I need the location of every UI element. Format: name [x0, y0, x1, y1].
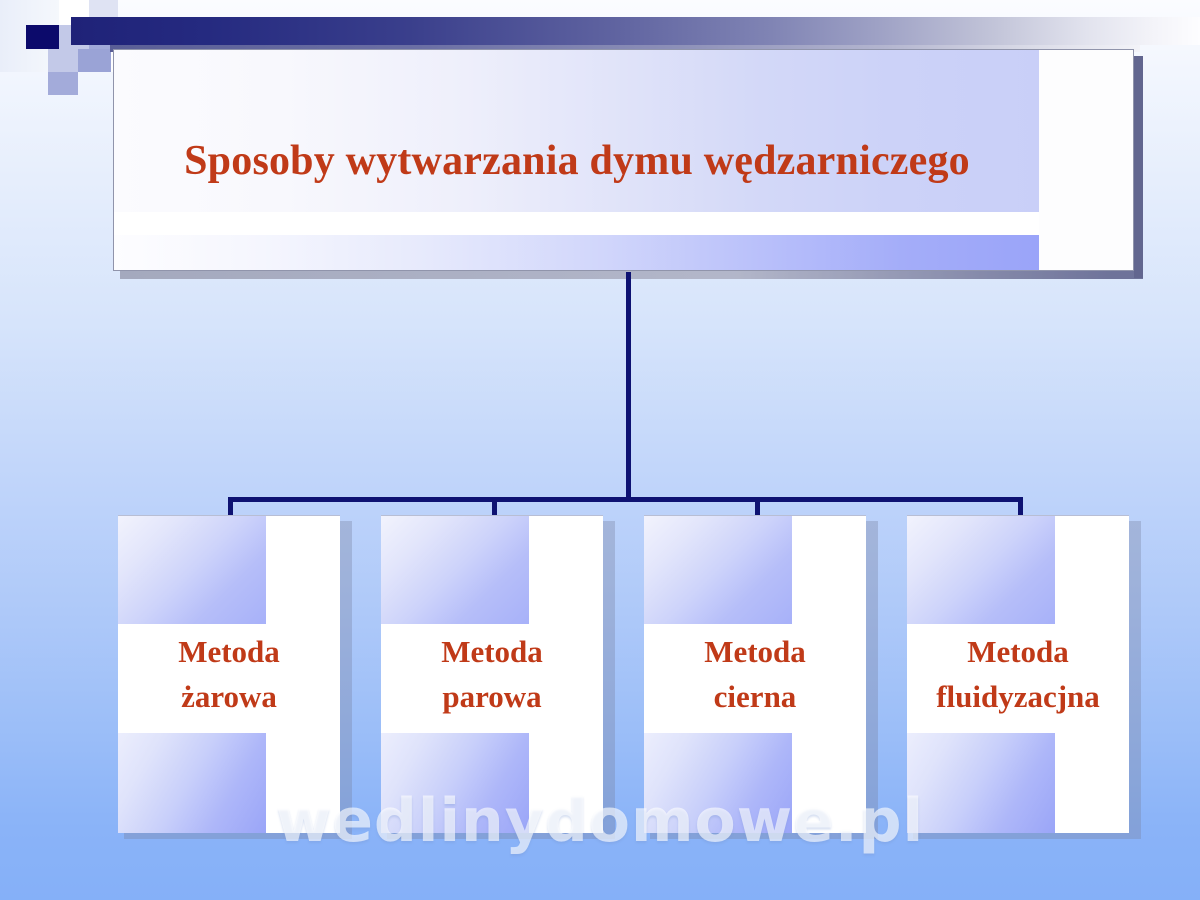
- connector-trunk: [626, 272, 631, 500]
- title-box-shadow-right: [1134, 56, 1143, 278]
- node-label-4: Metoda fluidyzacjna: [907, 516, 1129, 833]
- top-gradient-band: [71, 17, 1200, 45]
- node-box-1[interactable]: Metoda żarowa: [118, 515, 340, 833]
- decor-chip-navy: [26, 25, 59, 49]
- node-label-1: Metoda żarowa: [118, 516, 340, 833]
- page-title: Sposoby wytwarzania dymu wędzarniczego: [114, 50, 1040, 271]
- title-box: Sposoby wytwarzania dymu wędzarniczego: [113, 49, 1134, 271]
- node-label-2: Metoda parowa: [381, 516, 603, 833]
- decor-chip-mid-2: [78, 49, 111, 72]
- title-box-shadow-bottom: [120, 271, 1143, 279]
- node-box-3[interactable]: Metoda cierna: [644, 515, 866, 833]
- decor-chip-light-3: [48, 49, 78, 72]
- node-label-3: Metoda cierna: [644, 516, 866, 833]
- node-box-4[interactable]: Metoda fluidyzacjna: [907, 515, 1129, 833]
- decor-chip-mid-3: [48, 72, 78, 95]
- slide-canvas: Sposoby wytwarzania dymu wędzarniczego M…: [0, 0, 1200, 900]
- connector-crossbar: [228, 497, 1023, 502]
- node-box-2[interactable]: Metoda parowa: [381, 515, 603, 833]
